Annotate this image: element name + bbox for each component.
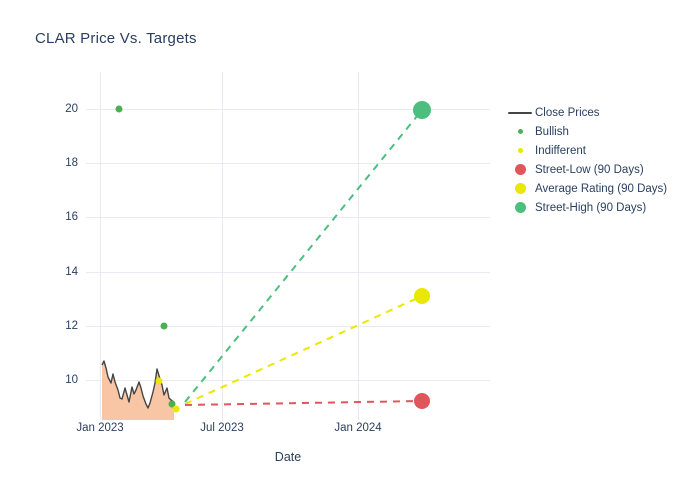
legend-item-close-prices[interactable]: Close Prices <box>505 103 695 122</box>
average-rating-target-marker[interactable] <box>414 288 430 304</box>
indifferent-point-marker[interactable] <box>156 378 163 385</box>
x-axis-tick-labels: Jan 2023 Jul 2023 Jan 2024 <box>86 422 490 442</box>
bullish-point-marker[interactable] <box>161 323 168 330</box>
street-low-target-marker[interactable] <box>414 393 430 409</box>
y-tick-label: 20 <box>65 103 78 115</box>
x-tick-label: Jul 2023 <box>200 422 243 434</box>
legend-label: Street-Low (90 Days) <box>535 164 644 176</box>
legend-label: Close Prices <box>535 107 600 119</box>
street-low-trend-line <box>185 401 422 405</box>
bullish-point-marker[interactable] <box>116 106 123 113</box>
page-title: CLAR Price Vs. Targets <box>35 30 197 47</box>
y-tick-label: 12 <box>65 320 78 332</box>
legend-item-average-rating[interactable]: Average Rating (90 Days) <box>505 179 695 198</box>
y-tick-label: 18 <box>65 157 78 169</box>
legend-item-bullish[interactable]: Bullish <box>505 122 695 141</box>
y-tick-label: 16 <box>65 211 78 223</box>
legend-label: Bullish <box>535 126 569 138</box>
line-icon <box>505 103 535 122</box>
y-axis-tick-labels: 20 18 16 14 12 10 <box>40 72 78 420</box>
dot-small-icon <box>505 122 535 141</box>
x-axis-title: Date <box>86 450 490 464</box>
average-rating-trend-line <box>185 296 422 404</box>
dot-large-icon <box>505 198 535 217</box>
x-tick-label: Jan 2024 <box>334 422 381 434</box>
legend-label: Indifferent <box>535 145 586 157</box>
chart-plot-svg <box>86 72 490 420</box>
legend-item-street-high[interactable]: Street-High (90 Days) <box>505 198 695 217</box>
indifferent-point-marker[interactable] <box>173 406 180 413</box>
legend-item-street-low[interactable]: Street-Low (90 Days) <box>505 160 695 179</box>
x-tick-label: Jan 2023 <box>76 422 123 434</box>
y-tick-label: 14 <box>65 266 78 278</box>
plot-area <box>86 72 490 420</box>
legend-item-indifferent[interactable]: Indifferent <box>505 141 695 160</box>
dot-large-icon <box>505 179 535 198</box>
chart-legend: Close Prices Bullish Indifferent Street-… <box>505 103 695 217</box>
legend-label: Street-High (90 Days) <box>535 202 646 214</box>
dot-small-icon <box>505 141 535 160</box>
street-high-trend-line <box>185 110 422 402</box>
y-tick-label: 10 <box>65 374 78 386</box>
legend-label: Average Rating (90 Days) <box>535 183 667 195</box>
dot-large-icon <box>505 160 535 179</box>
street-high-target-marker[interactable] <box>413 101 431 119</box>
chart-container: CLAR Price Vs. Targets 20 18 16 14 12 10 <box>0 0 700 500</box>
